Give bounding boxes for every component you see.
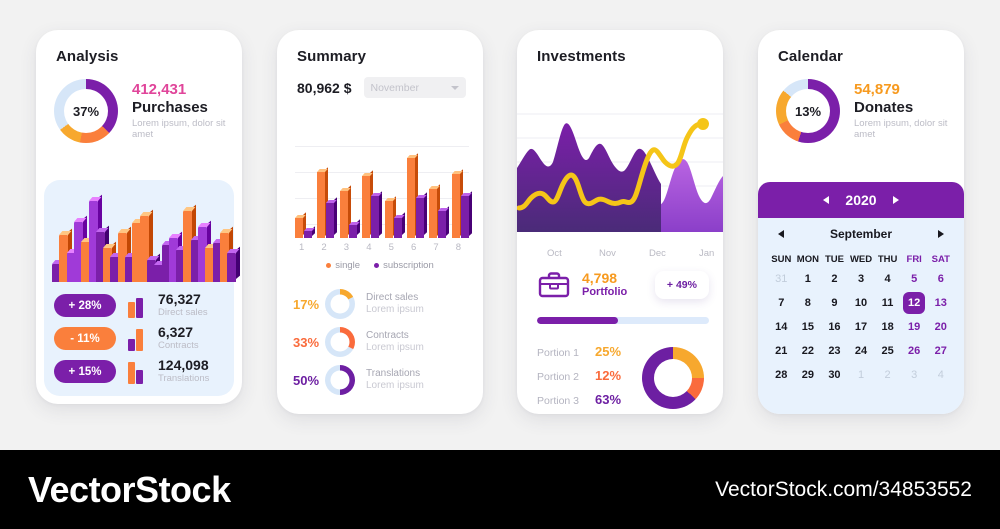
analysis-donut-center: 37% xyxy=(64,89,108,133)
bar-3d xyxy=(227,253,236,282)
mini-bar xyxy=(136,298,143,318)
summary-bar xyxy=(416,198,424,238)
calendar-day-name: THU xyxy=(874,254,901,265)
summary-bar xyxy=(452,174,460,238)
portion-row: Portion 212% xyxy=(537,368,637,392)
calendar-day[interactable]: 23 xyxy=(821,339,848,363)
bar-face xyxy=(385,201,393,238)
mini-bar xyxy=(136,329,143,351)
status-badge: + 28% xyxy=(54,294,116,317)
calendar-day-selected[interactable]: 12 xyxy=(901,291,928,315)
calendar-donut-chart: 13% xyxy=(776,79,840,143)
bar-face xyxy=(295,218,303,238)
investments-header: Investments xyxy=(517,30,723,65)
calendar-month-value: September xyxy=(830,227,892,241)
calendar-day: 2 xyxy=(874,363,901,387)
calendar-week-row: 78910111213 xyxy=(768,291,954,315)
calendar-day[interactable]: 27 xyxy=(927,339,954,363)
ring-center xyxy=(331,295,350,314)
calendar-day-label: 16 xyxy=(828,321,840,333)
calendar-kpi-text: 54,879 Donates Lorem ipsum, dolor sit am… xyxy=(854,81,958,142)
analysis-stat-caption: Translations xyxy=(158,373,209,384)
calendar-day: 1 xyxy=(848,363,875,387)
calendar-day-name: SUN xyxy=(768,254,795,265)
panel-calendar: Calendar 13% 54,879 Donates Lorem ipsum,… xyxy=(758,30,964,414)
analysis-donut-percent: 37% xyxy=(73,104,99,119)
summary-legend: singlesubscription xyxy=(277,260,483,271)
summary-item-title: Direct sales xyxy=(366,292,424,305)
bar-side xyxy=(424,192,427,235)
page-title-calendar: Calendar xyxy=(778,48,944,65)
summary-item-text: Direct salesLorem ipsum xyxy=(366,292,424,317)
ring-center xyxy=(331,333,350,352)
analysis-stats-list: + 28%76,327Direct sales- 11%6,327Contrac… xyxy=(54,289,224,388)
x-axis-tick: 6 xyxy=(411,242,416,253)
analysis-kpi: 37% 412,431 Purchases Lorem ipsum, dolor… xyxy=(36,65,242,143)
calendar-month-bar: September xyxy=(758,218,964,250)
watermark-url: VectorStock.com/34853552 xyxy=(715,478,972,502)
analysis-stat-value: 124,098 xyxy=(158,358,209,373)
investments-x-axis: OctNovDecJan xyxy=(517,248,723,260)
analysis-kpi-text: 412,431 Purchases Lorem ipsum, dolor sit… xyxy=(132,81,236,142)
bar-side xyxy=(469,191,472,236)
x-axis-tick: 2 xyxy=(321,242,326,253)
calendar-day[interactable]: 17 xyxy=(848,315,875,339)
calendar-day[interactable]: 30 xyxy=(821,363,848,387)
bar-face xyxy=(407,158,415,238)
summary-bar-chart xyxy=(295,146,469,238)
calendar-day-label: 9 xyxy=(831,297,837,309)
calendar-day[interactable]: 16 xyxy=(821,315,848,339)
legend-swatch xyxy=(326,263,331,268)
calendar-day[interactable]: 4 xyxy=(874,267,901,291)
x-axis-tick: Nov xyxy=(599,248,616,259)
summary-item-sub: Lorem ipsum xyxy=(366,342,424,355)
dashboard-stage: Analysis 37% 412,431 Purchases Lorem ips… xyxy=(0,0,1000,450)
calendar-day-label: 17 xyxy=(855,321,867,333)
month-next-icon[interactable] xyxy=(938,230,944,238)
calendar-day-label: 19 xyxy=(908,321,920,333)
calendar-day[interactable]: 19 xyxy=(901,315,928,339)
calendar-day-label: 28 xyxy=(775,369,787,381)
calendar-day-label: 4 xyxy=(885,273,891,285)
x-axis-tick: 8 xyxy=(456,242,461,253)
calendar-day[interactable]: 11 xyxy=(874,291,901,315)
mini-bar-icon xyxy=(128,327,150,351)
month-select[interactable]: November xyxy=(364,77,466,98)
list-item: 50%TranslationsLorem ipsum xyxy=(293,361,471,399)
calendar-weeks: 3112345678910111213141516171819202122232… xyxy=(758,267,964,387)
analysis-stat-value: 76,327 xyxy=(158,292,208,307)
summary-x-axis: 12345678 xyxy=(295,242,469,254)
mini-bar xyxy=(128,362,135,384)
summary-item-percent: 50% xyxy=(293,373,325,388)
calendar-day[interactable]: 21 xyxy=(768,339,795,363)
calendar-year-bar: 2020 xyxy=(758,182,964,218)
year-prev-icon[interactable] xyxy=(823,196,829,204)
panel-summary: Summary 80,962 $ November 12345678 singl… xyxy=(277,30,483,414)
mini-bar xyxy=(128,339,135,351)
calendar-day-label: 15 xyxy=(802,321,814,333)
calendar-day-label: 2 xyxy=(831,273,837,285)
bar-face xyxy=(371,196,379,238)
legend-item: subscription xyxy=(374,260,434,271)
calendar-day-name: SAT xyxy=(927,254,954,265)
summary-bar xyxy=(295,218,303,238)
calendar-day-label: 13 xyxy=(935,297,947,309)
calendar-day: 31 xyxy=(768,267,795,291)
x-axis-tick: 4 xyxy=(366,242,371,253)
analysis-stat-text: 76,327Direct sales xyxy=(158,292,208,318)
summary-item-title: Contracts xyxy=(366,330,424,343)
analysis-kpi-number: 412,431 xyxy=(132,81,236,98)
summary-bar xyxy=(385,201,393,238)
portions-list: Portion 125%Portion 212%Portion 363% xyxy=(537,340,637,414)
bar-face xyxy=(227,253,236,282)
bar-side xyxy=(379,191,382,236)
legend-label: subscription xyxy=(383,260,434,271)
x-axis-tick: 3 xyxy=(344,242,349,253)
analysis-bar-chart xyxy=(52,190,228,282)
investments-trend-endpoint xyxy=(697,118,709,130)
calendar-day[interactable]: 1 xyxy=(795,267,822,291)
bar-face xyxy=(326,203,334,238)
month-prev-icon[interactable] xyxy=(778,230,784,238)
analysis-kpi-sub: Lorem ipsum, dolor sit amet xyxy=(132,118,236,142)
calendar-day: 3 xyxy=(901,363,928,387)
summary-bar xyxy=(429,189,437,238)
calendar-day-label: 26 xyxy=(908,345,920,357)
calendar-day[interactable]: 22 xyxy=(795,339,822,363)
x-axis-tick: 5 xyxy=(389,242,394,253)
calendar-day-names: SUNMONTUEWEDTHUFRISAT xyxy=(758,250,964,267)
calendar-body: September SUNMONTUEWEDTHUFRISAT 31123456… xyxy=(758,218,964,414)
calendar-day[interactable]: 8 xyxy=(795,291,822,315)
legend-label: single xyxy=(335,260,360,271)
legend-item: single xyxy=(326,260,360,271)
x-axis-tick: Dec xyxy=(649,248,666,259)
calendar-day[interactable]: 14 xyxy=(768,315,795,339)
calendar-kpi-label: Donates xyxy=(854,98,958,118)
calendar-day-label: 6 xyxy=(938,273,944,285)
calendar-day[interactable]: 3 xyxy=(848,267,875,291)
summary-total-value: 80,962 $ xyxy=(297,80,352,96)
ring-center xyxy=(331,371,350,390)
mini-bar-icon xyxy=(128,360,150,384)
bar-face xyxy=(349,225,357,238)
page-title-analysis: Analysis xyxy=(56,48,222,65)
calendar-week-row: 14151617181920 xyxy=(768,315,954,339)
calendar-day[interactable]: 29 xyxy=(795,363,822,387)
calendar-day[interactable]: 9 xyxy=(821,291,848,315)
calendar-day[interactable]: 2 xyxy=(821,267,848,291)
briefcase-icon xyxy=(537,270,571,300)
summary-item-text: TranslationsLorem ipsum xyxy=(366,368,424,393)
calendar-day-label: 4 xyxy=(938,369,944,381)
x-axis-tick: Oct xyxy=(547,248,562,259)
mini-bar xyxy=(128,302,135,318)
list-item: 17%Direct salesLorem ipsum xyxy=(293,285,471,323)
month-select-value: November xyxy=(371,82,419,94)
calendar-day-label: 30 xyxy=(828,369,840,381)
calendar-day[interactable]: 26 xyxy=(901,339,928,363)
analysis-stat-text: 124,098Translations xyxy=(158,358,209,384)
portfolio-progress-fill xyxy=(537,317,618,324)
calendar-day-label: 3 xyxy=(858,273,864,285)
portfolio-label: Portfolio xyxy=(582,286,627,299)
watermark-brand: VectorStock xyxy=(28,469,231,511)
portfolio-number: 4,798 xyxy=(582,271,627,286)
calendar-header: Calendar xyxy=(758,30,964,65)
page-title-summary: Summary xyxy=(297,48,463,65)
panel-analysis: Analysis 37% 412,431 Purchases Lorem ips… xyxy=(36,30,242,404)
calendar-day-name: TUE xyxy=(821,254,848,265)
calendar-day[interactable]: 13 xyxy=(927,291,954,315)
legend-swatch xyxy=(374,263,379,268)
calendar-day[interactable]: 15 xyxy=(795,315,822,339)
portion-value: 63% xyxy=(595,392,621,407)
bar-face xyxy=(340,191,348,238)
portions-donut-center xyxy=(654,359,692,397)
calendar-day-label: 29 xyxy=(802,369,814,381)
summary-bar xyxy=(340,191,348,238)
bar-face xyxy=(304,231,312,238)
summary-item-percent: 33% xyxy=(293,335,325,350)
summary-item-title: Translations xyxy=(366,368,424,381)
x-axis-tick: 1 xyxy=(299,242,304,253)
summary-item-ring xyxy=(325,327,355,357)
portfolio-progress-bar xyxy=(537,317,709,324)
summary-bar xyxy=(461,196,469,238)
summary-bar xyxy=(371,196,379,238)
calendar-week-row: 21222324252627 xyxy=(768,339,954,363)
analysis-kpi-label: Purchases xyxy=(132,98,236,118)
calendar-day[interactable]: 28 xyxy=(768,363,795,387)
calendar-day-label: 18 xyxy=(881,321,893,333)
summary-bar xyxy=(394,218,402,238)
gridline xyxy=(295,146,469,147)
bar-side xyxy=(334,198,337,236)
status-badge: - 11% xyxy=(54,327,116,350)
analysis-stat-caption: Direct sales xyxy=(158,307,208,318)
summary-header: Summary xyxy=(277,30,483,65)
calendar-day-label: 22 xyxy=(802,345,814,357)
calendar-day[interactable]: 25 xyxy=(874,339,901,363)
calendar-day[interactable]: 10 xyxy=(848,291,875,315)
chevron-down-icon xyxy=(451,86,459,90)
calendar-day-label: 10 xyxy=(855,297,867,309)
summary-item-ring xyxy=(325,365,355,395)
calendar-day-label: 21 xyxy=(775,345,787,357)
calendar-week-row: 2829301234 xyxy=(768,363,954,387)
calendar-day-label: 25 xyxy=(881,345,893,357)
analysis-stat-row: + 28%76,327Direct sales xyxy=(54,289,224,322)
calendar-day-label: 24 xyxy=(855,345,867,357)
watermark-footer: VectorStock VectorStock.com/34853552 xyxy=(0,450,1000,529)
summary-bar xyxy=(349,225,357,238)
calendar-day-label: 7 xyxy=(778,297,784,309)
bar-face xyxy=(438,211,446,238)
summary-bar xyxy=(317,172,325,238)
calendar-day-label: 31 xyxy=(775,273,787,285)
calendar-kpi-sub: Lorem ipsum, dolor sit amet xyxy=(854,118,958,142)
analysis-lower-card: + 28%76,327Direct sales- 11%6,327Contrac… xyxy=(44,180,234,396)
calendar-day-name: WED xyxy=(848,254,875,265)
summary-total-row: 80,962 $ November xyxy=(277,65,483,98)
calendar-donut-center: 13% xyxy=(786,89,830,133)
investments-area-chart xyxy=(517,92,723,244)
calendar-day-label: 12 xyxy=(908,297,920,309)
bar-face xyxy=(394,218,402,238)
bar-face xyxy=(317,172,325,238)
summary-bar xyxy=(362,176,370,238)
calendar-day-label: 23 xyxy=(828,345,840,357)
summary-item-ring xyxy=(325,289,355,319)
analysis-header: Analysis xyxy=(36,30,242,65)
summary-item-text: ContractsLorem ipsum xyxy=(366,330,424,355)
analysis-donut-chart: 37% xyxy=(54,79,118,143)
summary-bar xyxy=(438,211,446,238)
calendar-day: 4 xyxy=(927,363,954,387)
summary-breakdown-list: 17%Direct salesLorem ipsum33%ContractsLo… xyxy=(293,285,471,399)
portion-name: Portion 1 xyxy=(537,347,595,359)
calendar-kpi: 13% 54,879 Donates Lorem ipsum, dolor si… xyxy=(758,65,964,143)
calendar-day-label: 5 xyxy=(911,273,917,285)
calendar-day[interactable]: 18 xyxy=(874,315,901,339)
portfolio-change-badge: + 49% xyxy=(655,271,709,299)
bar-face xyxy=(362,176,370,238)
calendar-day[interactable]: 6 xyxy=(927,267,954,291)
summary-bar xyxy=(304,231,312,238)
analysis-stat-value: 6,327 xyxy=(158,325,199,340)
analysis-stat-text: 6,327Contracts xyxy=(158,325,199,351)
investments-portions-row: Portion 125%Portion 212%Portion 363% xyxy=(537,340,709,414)
summary-bar xyxy=(407,158,415,238)
bar-face xyxy=(416,198,424,238)
panel-investments: Investments xyxy=(517,30,723,414)
bar-side xyxy=(446,206,449,236)
x-axis-tick: 7 xyxy=(433,242,438,253)
calendar-donut-percent: 13% xyxy=(795,104,821,119)
portion-name: Portion 3 xyxy=(537,395,595,407)
analysis-stat-caption: Contracts xyxy=(158,340,199,351)
calendar-year-value: 2020 xyxy=(845,192,876,208)
calendar-day-label: 14 xyxy=(775,321,787,333)
portions-donut-chart xyxy=(642,347,704,409)
calendar-day-label: 3 xyxy=(911,369,917,381)
calendar-day-label: 2 xyxy=(885,369,891,381)
bar-face xyxy=(429,189,437,238)
x-axis-tick: Jan xyxy=(699,248,714,259)
calendar-day-label: 8 xyxy=(805,297,811,309)
calendar-day-label: 1 xyxy=(858,369,864,381)
calendar-day-label: 11 xyxy=(882,297,894,309)
portion-row: Portion 363% xyxy=(537,392,637,414)
analysis-stat-row: + 15%124,098Translations xyxy=(54,355,224,388)
calendar-day[interactable]: 20 xyxy=(927,315,954,339)
calendar-day[interactable]: 5 xyxy=(901,267,928,291)
bar-face xyxy=(452,174,460,238)
calendar-day-label: 20 xyxy=(935,321,947,333)
page-title-investments: Investments xyxy=(537,48,703,65)
summary-item-sub: Lorem ipsum xyxy=(366,380,424,393)
calendar-day-label: 27 xyxy=(935,345,947,357)
portion-value: 25% xyxy=(595,344,621,359)
summary-bar xyxy=(326,203,334,238)
year-next-icon[interactable] xyxy=(893,196,899,204)
mini-bar xyxy=(136,370,143,384)
portions-donut-wrap xyxy=(637,340,709,414)
calendar-day-name: MON xyxy=(795,254,822,265)
calendar-day[interactable]: 7 xyxy=(768,291,795,315)
calendar-day-name: FRI xyxy=(901,254,928,265)
calendar-kpi-number: 54,879 xyxy=(854,81,958,98)
portfolio-row: 4,798 Portfolio + 49% xyxy=(537,270,709,300)
investments-area-svg xyxy=(517,92,723,244)
summary-item-percent: 17% xyxy=(293,297,325,312)
calendar-day-label: 1 xyxy=(805,273,811,285)
list-item: 33%ContractsLorem ipsum xyxy=(293,323,471,361)
mini-bar-icon xyxy=(128,294,150,318)
summary-item-sub: Lorem ipsum xyxy=(366,304,424,317)
portion-value: 12% xyxy=(595,368,621,383)
calendar-week-row: 31123456 xyxy=(768,267,954,291)
portion-row: Portion 125% xyxy=(537,344,637,368)
status-badge: + 15% xyxy=(54,360,116,383)
analysis-stat-row: - 11%6,327Contracts xyxy=(54,322,224,355)
bar-face xyxy=(461,196,469,238)
portion-name: Portion 2 xyxy=(537,371,595,383)
calendar-day[interactable]: 24 xyxy=(848,339,875,363)
